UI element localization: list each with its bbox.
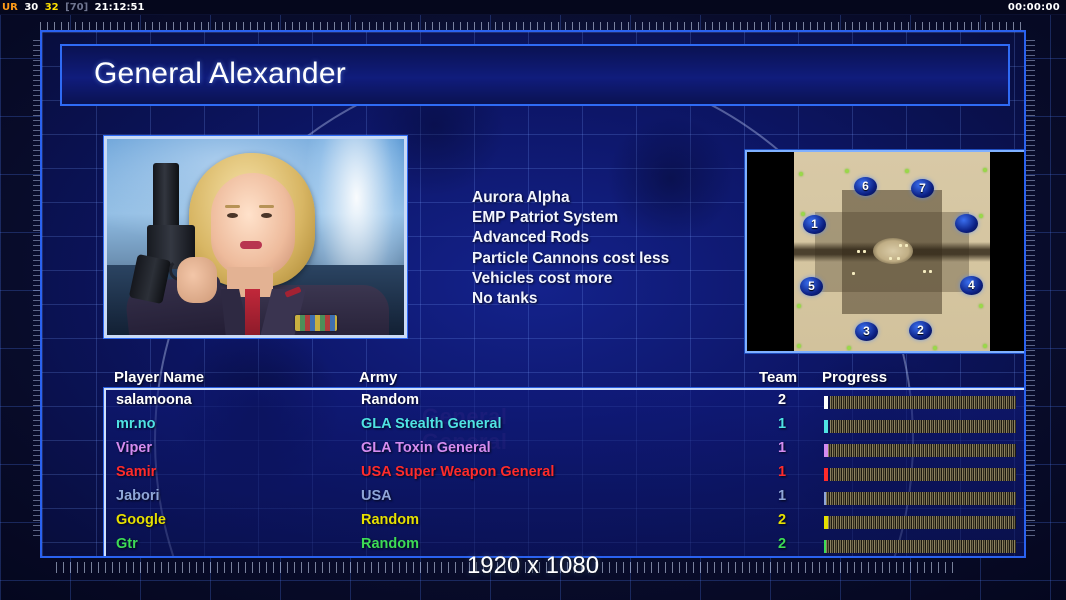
- column-header-army: Army: [359, 369, 397, 386]
- map-supply-point: [979, 304, 983, 308]
- portrait-brow-left: [225, 205, 240, 208]
- hud-timer: 00:00:00: [1008, 0, 1060, 15]
- map-start-position: 7: [911, 179, 934, 198]
- map-supply-point: [797, 344, 801, 348]
- player-army-cell: Random: [361, 392, 419, 408]
- hud-value-2: 32: [45, 2, 59, 13]
- player-progress-bar: [824, 468, 1016, 481]
- player-progress-bar: [824, 492, 1016, 505]
- player-name-cell: Gtr: [116, 536, 138, 552]
- player-army-cell: GLA Stealth General: [361, 416, 501, 432]
- player-team-cell: 1: [771, 440, 793, 456]
- hud-bar: UR 30 32 [70] 21:12:51 00:00:00: [0, 0, 1066, 15]
- map-start-position: 5: [800, 277, 823, 296]
- map-tech-building: [857, 250, 860, 253]
- hud-stats: UR 30 32 [70] 21:12:51: [2, 0, 147, 15]
- map-start-position: 2: [909, 321, 932, 340]
- progress-bar-fill: [828, 444, 1016, 457]
- map-supply-point: [979, 214, 983, 218]
- player-list: salamoonaRandom2mr.noGLA Stealth General…: [104, 388, 1026, 558]
- map-supply-point: [983, 168, 987, 172]
- map-tech-building: [852, 272, 855, 275]
- map-tech-building: [905, 244, 908, 247]
- hud-value-1: 30: [24, 2, 38, 13]
- player-army-cell: USA: [361, 488, 392, 504]
- player-name-cell: salamoona: [116, 392, 192, 408]
- progress-bar-leader: [824, 396, 828, 409]
- bonus-item: Aurora Alpha: [472, 188, 669, 208]
- map-supply-point: [797, 304, 801, 308]
- bonus-item: Advanced Rods: [472, 228, 669, 248]
- progress-bar-fill: [828, 516, 1016, 529]
- map-tech-building: [923, 270, 926, 273]
- player-army-cell: GLA Toxin General: [361, 440, 491, 456]
- map-start-position: 3: [855, 322, 878, 341]
- map-tech-building: [899, 244, 902, 247]
- map-supply-point: [799, 172, 803, 176]
- table-row[interactable]: ViperGLA Toxin General1: [106, 438, 1026, 462]
- portrait-lips: [240, 241, 262, 249]
- page-title: General Alexander: [94, 57, 346, 91]
- ruler-right: [1026, 40, 1035, 540]
- progress-bar-fill: [830, 468, 1016, 481]
- player-name-cell: Samir: [116, 464, 156, 480]
- player-table-headers: Player Name Army Team Progress: [104, 369, 1026, 391]
- player-name-cell: mr.no: [116, 416, 155, 432]
- map-tech-building: [889, 257, 892, 260]
- hud-bracket: [70]: [65, 2, 88, 13]
- player-progress-bar: [824, 444, 1016, 457]
- player-name-cell: Jabori: [116, 488, 160, 504]
- portrait-face: [211, 173, 295, 277]
- progress-bar-fill: [830, 396, 1016, 409]
- map-preview: 6 7 1 5 4 3 2: [745, 150, 1026, 353]
- portrait-brow-right: [259, 205, 274, 208]
- map-start-position: 6: [854, 177, 877, 196]
- player-team-cell: 1: [771, 488, 793, 504]
- player-team-cell: 2: [771, 512, 793, 528]
- player-army-cell: Random: [361, 536, 419, 552]
- progress-bar-leader: [824, 468, 828, 481]
- hud-label: UR: [2, 2, 18, 13]
- table-row[interactable]: GoogleRandom2: [106, 510, 1026, 534]
- map-supply-point: [905, 169, 909, 173]
- map-supply-point: [801, 212, 805, 216]
- map-tech-building: [897, 257, 900, 260]
- portrait-necktie: [245, 289, 260, 335]
- progress-bar-fill: [826, 492, 1016, 505]
- player-team-cell: 1: [771, 464, 793, 480]
- general-bonus-list: Aurora Alpha EMP Patriot System Advanced…: [472, 188, 669, 309]
- map-center-feature: [873, 238, 913, 264]
- title-bar: General Alexander: [60, 44, 1010, 106]
- player-team-cell: 2: [771, 392, 793, 408]
- player-army-cell: USA Super Weapon General: [361, 464, 554, 480]
- player-progress-bar: [824, 396, 1016, 409]
- bonus-item: Particle Cannons cost less: [472, 249, 669, 269]
- general-portrait: [104, 136, 407, 338]
- portrait-hand: [177, 257, 217, 303]
- map-start-position: [955, 214, 978, 233]
- table-row[interactable]: JaboriUSA1: [106, 486, 1026, 510]
- player-name-cell: Google: [116, 512, 166, 528]
- portrait-medal-ribbons: [295, 315, 337, 331]
- column-header-progress: Progress: [822, 369, 887, 386]
- portrait-eye-right: [261, 213, 272, 218]
- hud-clock: 21:12:51: [95, 2, 145, 13]
- progress-bar-fill: [830, 420, 1016, 433]
- player-progress-bar: [824, 516, 1016, 529]
- map-start-position: 1: [803, 215, 826, 234]
- column-header-player-name: Player Name: [114, 369, 204, 386]
- player-army-cell: Random: [361, 512, 419, 528]
- table-row[interactable]: SamirUSA Super Weapon General1: [106, 462, 1026, 486]
- portrait-eye-left: [227, 213, 238, 218]
- bonus-item: No tanks: [472, 289, 669, 309]
- map-tech-building: [929, 270, 932, 273]
- map-supply-point: [845, 169, 849, 173]
- map-tech-building: [863, 250, 866, 253]
- player-progress-bar: [824, 420, 1016, 433]
- pistol-barrel-icon: [153, 163, 179, 233]
- column-header-team: Team: [759, 369, 797, 386]
- map-supply-point: [847, 346, 851, 350]
- game-screen: UR 30 32 [70] 21:12:51 00:00:00 GeneralG…: [0, 0, 1066, 600]
- table-row[interactable]: mr.noGLA Stealth General1: [106, 414, 1026, 438]
- progress-bar-leader: [824, 420, 828, 433]
- bonus-item: EMP Patriot System: [472, 208, 669, 228]
- bonus-item: Vehicles cost more: [472, 269, 669, 289]
- map-supply-point: [933, 346, 937, 350]
- player-team-cell: 2: [771, 536, 793, 552]
- table-row[interactable]: salamoonaRandom2: [106, 390, 1026, 414]
- map-supply-point: [983, 344, 987, 348]
- player-team-cell: 1: [771, 416, 793, 432]
- resolution-label: 1920 x 1080: [0, 552, 1066, 580]
- loading-screen-window: GeneralGeneral General Alexander: [40, 30, 1026, 558]
- player-name-cell: Viper: [116, 440, 152, 456]
- map-start-position: 4: [960, 276, 983, 295]
